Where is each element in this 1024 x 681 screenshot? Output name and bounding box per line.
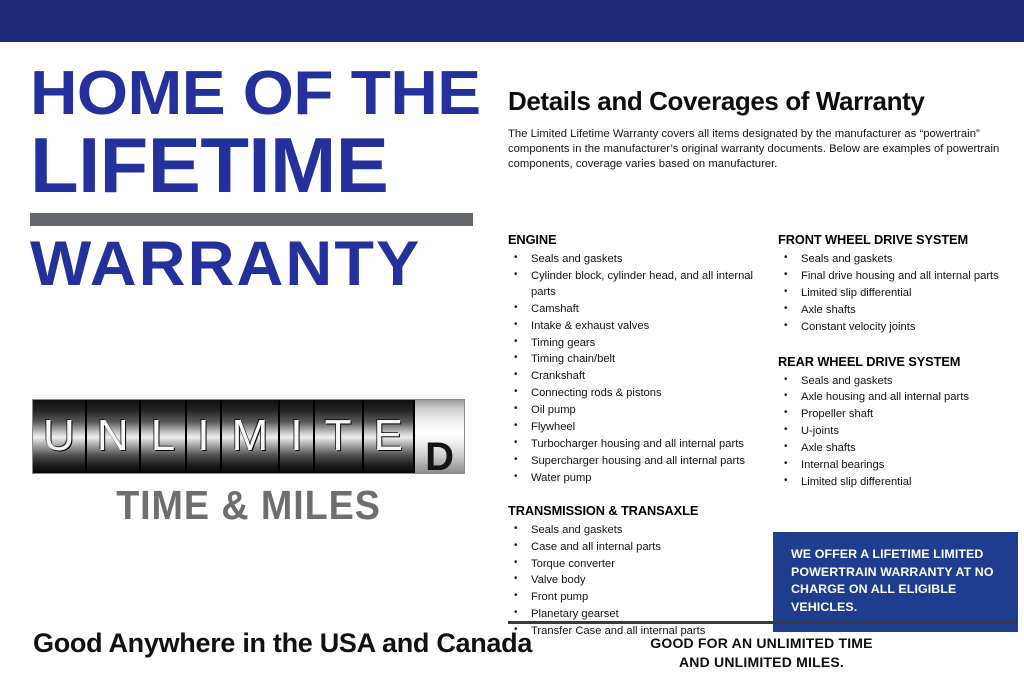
list-item: Timing chain/belt: [508, 352, 766, 368]
hero-line-lifetime: LIFETIME: [30, 127, 489, 203]
coverage-column-right: FRONT WHEEL DRIVE SYSTEM Seals and gaske…: [778, 232, 1024, 503]
section-heading-rear-wheel-drive: REAR WHEEL DRIVE SYSTEM: [778, 354, 1024, 369]
list-item: Case and all internal parts: [508, 540, 766, 556]
odometer-letter: E: [374, 414, 403, 458]
section-transmission: TRANSMISSION & TRANSAXLE Seals and gaske…: [508, 503, 766, 640]
odometer-letter: L: [151, 414, 175, 458]
section-heading-transmission: TRANSMISSION & TRANSAXLE: [508, 503, 766, 518]
right-panel: Details and Coverages of Warranty The Li…: [497, 42, 1024, 681]
coverage-column-left: ENGINE Seals and gaskets Cylinder block,…: [508, 232, 766, 652]
odometer-cell-8: E: [364, 400, 415, 473]
list-item: Final drive housing and all internal par…: [778, 269, 1024, 285]
list-item: Torque converter: [508, 557, 766, 573]
intro-paragraph: The Limited Lifetime Warranty covers all…: [508, 127, 1005, 172]
engine-item-list: Seals and gaskets Cylinder block, cylind…: [508, 252, 766, 487]
hero-divider-rule: [30, 213, 473, 226]
left-footer-text: Good Anywhere in the USA and Canada: [33, 628, 532, 659]
odometer-cell-2: N: [87, 400, 141, 473]
top-navy-bar: [0, 0, 1024, 42]
odometer-letter: I: [197, 414, 209, 458]
odometer-cell-7: T: [315, 400, 364, 473]
list-item: Supercharger housing and all internal pa…: [508, 454, 766, 470]
odometer-subtitle: TIME & MILES: [50, 482, 447, 529]
odometer-cell-3: L: [141, 400, 188, 473]
list-item: Oil pump: [508, 403, 766, 419]
odometer-reel: U N L I M I T E D: [33, 400, 464, 473]
list-item: Valve body: [508, 573, 766, 589]
list-item: Water pump: [508, 471, 766, 487]
odometer-letter: M: [232, 414, 269, 458]
list-item: Seals and gaskets: [778, 374, 1024, 390]
odometer-cell-1: U: [33, 400, 87, 473]
list-item: Limited slip differential: [778, 286, 1024, 302]
odometer-cell-4: I: [187, 400, 221, 473]
list-item: Flywheel: [508, 420, 766, 436]
section-rear-wheel-drive: REAR WHEEL DRIVE SYSTEM Seals and gasket…: [778, 354, 1024, 491]
odometer-letter: U: [43, 414, 75, 458]
list-item: Constant velocity joints: [778, 320, 1024, 336]
list-item: Camshaft: [508, 302, 766, 318]
odometer-letter: D: [425, 437, 454, 473]
section-engine: ENGINE Seals and gaskets Cylinder block,…: [508, 232, 766, 487]
left-panel: HOME OF THE LIFETIME WARRANTY U N L I M …: [0, 42, 497, 681]
hero-line-warranty: WARRANTY: [30, 234, 494, 296]
list-item: Crankshaft: [508, 369, 766, 385]
odometer-cell-9: D: [415, 400, 464, 473]
warranty-flyer: HOME OF THE LIFETIME WARRANTY U N L I M …: [0, 0, 1024, 681]
odometer-graphic: U N L I M I T E D TIME & MILES: [33, 400, 464, 529]
list-item: Cylinder block, cylinder head, and all i…: [508, 269, 766, 301]
list-item: Limited slip differential: [778, 475, 1024, 491]
right-footer-text: GOOD FOR AN UNLIMITED TIME AND UNLIMITED…: [508, 634, 1015, 673]
list-item: Timing gears: [508, 336, 766, 352]
list-item: Turbocharger housing and all internal pa…: [508, 437, 766, 453]
list-item: Intake & exhaust valves: [508, 319, 766, 335]
list-item: Axle shafts: [778, 303, 1024, 319]
list-item: Propeller shaft: [778, 407, 1024, 423]
list-item: Axle shafts: [778, 441, 1024, 457]
rear-wheel-drive-item-list: Seals and gaskets Axle housing and all i…: [778, 374, 1024, 491]
odometer-letter: N: [97, 414, 129, 458]
front-wheel-drive-item-list: Seals and gaskets Final drive housing an…: [778, 252, 1024, 336]
odometer-cell-6: I: [280, 400, 314, 473]
section-heading-front-wheel-drive: FRONT WHEEL DRIVE SYSTEM: [778, 232, 1024, 247]
odometer-letter: I: [290, 414, 302, 458]
callout-text: WE OFFER A LIFETIME LIMITED POWERTRAIN W…: [791, 546, 1004, 616]
odometer-letter: T: [325, 414, 352, 458]
list-item: Seals and gaskets: [508, 523, 766, 539]
section-heading-engine: ENGINE: [508, 232, 766, 247]
list-item: Internal bearings: [778, 458, 1024, 474]
hero-line-home: HOME OF THE: [30, 64, 507, 125]
hero-headline: HOME OF THE LIFETIME WARRANTY: [30, 64, 480, 296]
list-item: Axle housing and all internal parts: [778, 390, 1024, 406]
odometer-cell-5: M: [222, 400, 281, 473]
callout-box: WE OFFER A LIFETIME LIMITED POWERTRAIN W…: [773, 532, 1018, 632]
right-footer-line-2: AND UNLIMITED MILES.: [508, 653, 1015, 672]
right-footer-line-1: GOOD FOR AN UNLIMITED TIME: [508, 634, 1015, 653]
list-item: U-joints: [778, 424, 1024, 440]
footer-divider-rule: [508, 621, 1015, 624]
list-item: Seals and gaskets: [778, 252, 1024, 268]
list-item: Connecting rods & pistons: [508, 386, 766, 402]
section-front-wheel-drive: FRONT WHEEL DRIVE SYSTEM Seals and gaske…: [778, 232, 1024, 336]
list-item: Seals and gaskets: [508, 252, 766, 268]
page-title: Details and Coverages of Warranty: [508, 86, 924, 117]
list-item: Front pump: [508, 590, 766, 606]
